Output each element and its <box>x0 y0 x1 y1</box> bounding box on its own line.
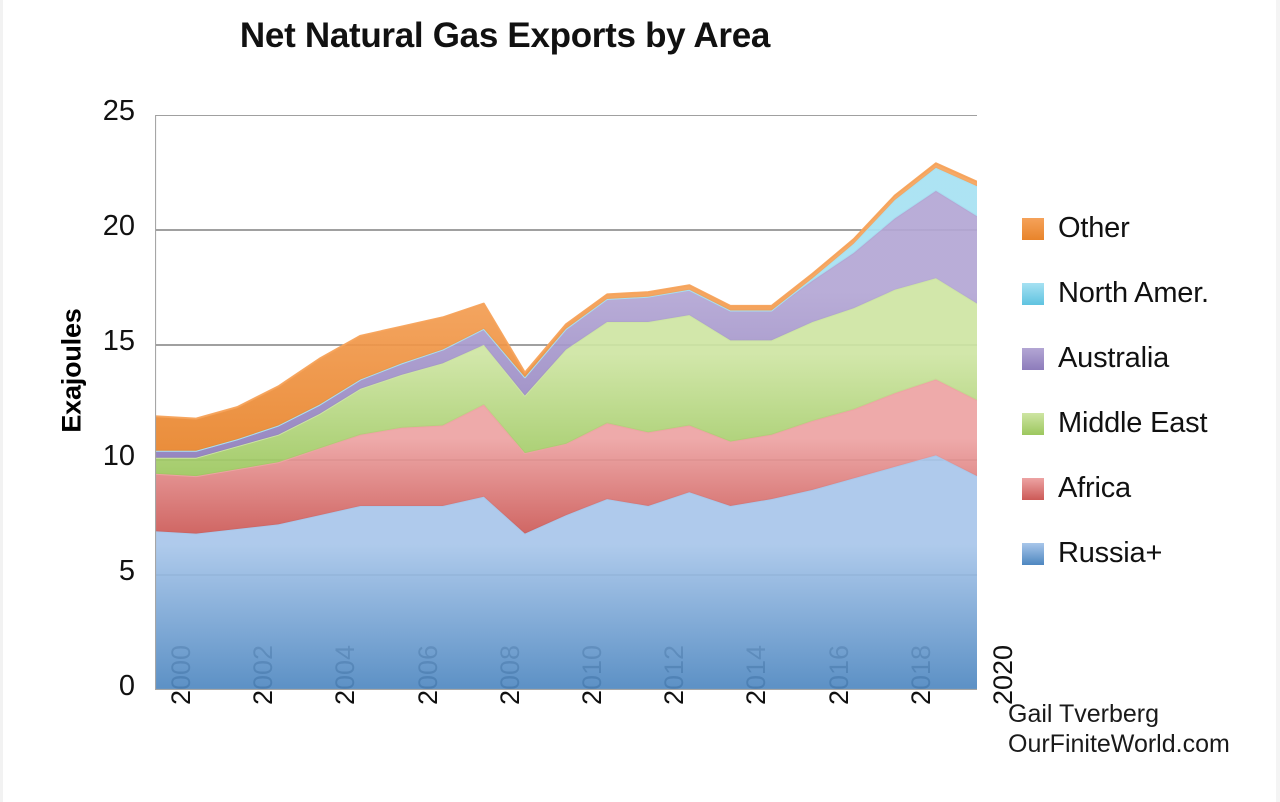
plot-area <box>155 115 977 690</box>
chart-legend: OtherNorth Amer.AustraliaMiddle EastAfri… <box>1022 196 1272 586</box>
legend-swatch-icon <box>1022 478 1044 500</box>
legend-swatch-icon <box>1022 413 1044 435</box>
legend-label: Other <box>1058 212 1130 245</box>
legend-label: North Amer. <box>1058 277 1209 310</box>
legend-item-middle-east[interactable]: Middle East <box>1022 391 1272 456</box>
legend-label: Russia+ <box>1058 537 1162 570</box>
legend-item-russia[interactable]: Russia+ <box>1022 521 1272 586</box>
y-tick-5: 5 <box>65 555 135 588</box>
legend-item-north-amer[interactable]: North Amer. <box>1022 261 1272 326</box>
y-axis-title: Exajoules <box>57 291 88 451</box>
attribution-site: OurFiniteWorld.com <box>1008 730 1230 760</box>
y-tick-10: 10 <box>65 440 135 473</box>
chart-title: Net Natural Gas Exports by Area <box>0 16 1010 56</box>
y-tick-0: 0 <box>65 670 135 703</box>
legend-label: Australia <box>1058 342 1169 375</box>
legend-swatch-icon <box>1022 348 1044 370</box>
right-edge-border <box>1276 0 1280 802</box>
x-tick-2020: 2020 <box>988 645 1019 705</box>
attribution-author: Gail Tverberg <box>1008 700 1230 730</box>
y-tick-25: 25 <box>65 95 135 128</box>
legend-item-australia[interactable]: Australia <box>1022 326 1272 391</box>
chart-container: Net Natural Gas Exports by Area Exajoule… <box>0 0 1280 802</box>
legend-label: Middle East <box>1058 407 1207 440</box>
legend-item-other[interactable]: Other <box>1022 196 1272 261</box>
legend-swatch-icon <box>1022 543 1044 565</box>
attribution-block: Gail Tverberg OurFiniteWorld.com <box>1008 700 1230 759</box>
stacked-area-svg <box>155 115 977 690</box>
legend-swatch-icon <box>1022 283 1044 305</box>
legend-label: Africa <box>1058 472 1131 505</box>
legend-swatch-icon <box>1022 218 1044 240</box>
y-tick-20: 20 <box>65 210 135 243</box>
left-edge-border <box>0 0 3 802</box>
legend-item-africa[interactable]: Africa <box>1022 456 1272 521</box>
y-tick-15: 15 <box>65 325 135 358</box>
